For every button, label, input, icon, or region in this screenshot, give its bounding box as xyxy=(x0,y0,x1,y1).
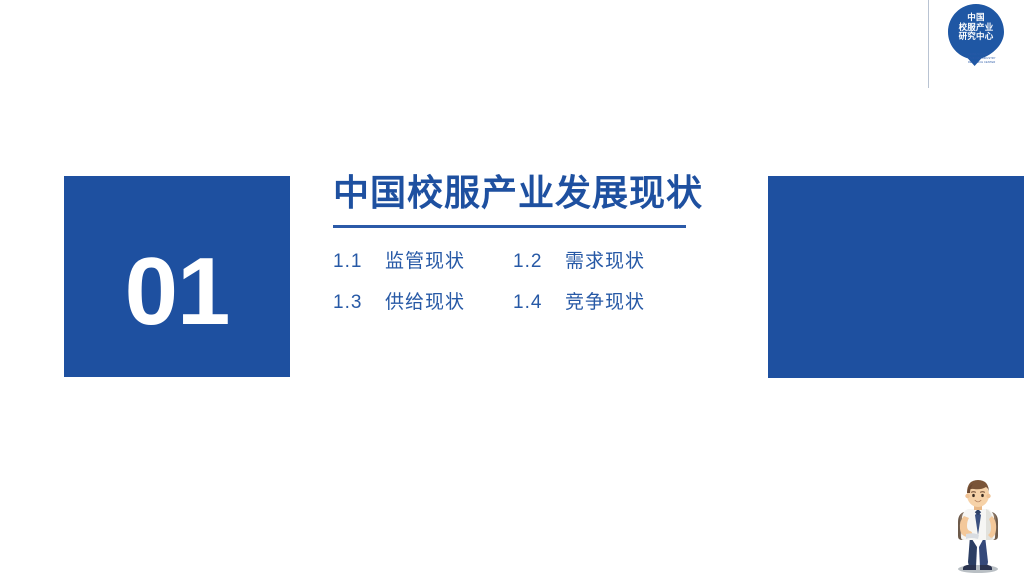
toc-item-1-3[interactable]: 1.3 供给现状 xyxy=(333,289,513,318)
toc-index: 1.3 xyxy=(333,289,385,318)
toc-row: 1.3 供给现状 1.4 竞争现状 xyxy=(333,289,693,318)
student-character-illustration xyxy=(940,476,1016,574)
toc-row: 1.1 监管现状 1.2 需求现状 xyxy=(333,248,693,277)
logo-english-text: CHINA SCHOOL UNIFORM INDUSTRY RESEARCH C… xyxy=(968,53,1006,65)
header-divider xyxy=(928,0,929,88)
right-accent-block xyxy=(768,176,1024,378)
toc-item-1-2[interactable]: 1.2 需求现状 xyxy=(513,248,693,277)
content-area: 中国校服产业发展现状 1.1 监管现状 1.2 需求现状 1.3 供给现状 xyxy=(333,170,693,329)
logo-line-3: 研究中心 xyxy=(954,32,998,42)
toc-label: 竞争现状 xyxy=(565,289,645,318)
slide-canvas: 中国 校服产业 研究中心 CHINA SCHOOL UNIFORM INDUST… xyxy=(0,0,1024,576)
toc-label: 需求现状 xyxy=(565,248,645,277)
toc-list: 1.1 监管现状 1.2 需求现状 1.3 供给现状 1.4 竞争现状 xyxy=(333,248,693,317)
toc-index: 1.2 xyxy=(513,248,565,277)
toc-label: 供给现状 xyxy=(385,289,465,318)
toc-index: 1.4 xyxy=(513,289,565,318)
title-underline xyxy=(333,225,686,228)
logo-english-line-3: RESEARCH CENTER xyxy=(968,61,1006,65)
brand-logo: 中国 校服产业 研究中心 CHINA SCHOOL UNIFORM INDUST… xyxy=(948,4,1006,78)
page-title: 中国校服产业发展现状 xyxy=(333,170,693,215)
section-number-block: 01 xyxy=(64,176,290,377)
toc-item-1-4[interactable]: 1.4 竞争现状 xyxy=(513,289,693,318)
logo-text-block: 中国 校服产业 研究中心 xyxy=(954,13,998,42)
toc-index: 1.1 xyxy=(333,248,385,277)
toc-item-1-1[interactable]: 1.1 监管现状 xyxy=(333,248,513,277)
toc-label: 监管现状 xyxy=(385,248,465,277)
section-number: 01 xyxy=(64,244,290,340)
